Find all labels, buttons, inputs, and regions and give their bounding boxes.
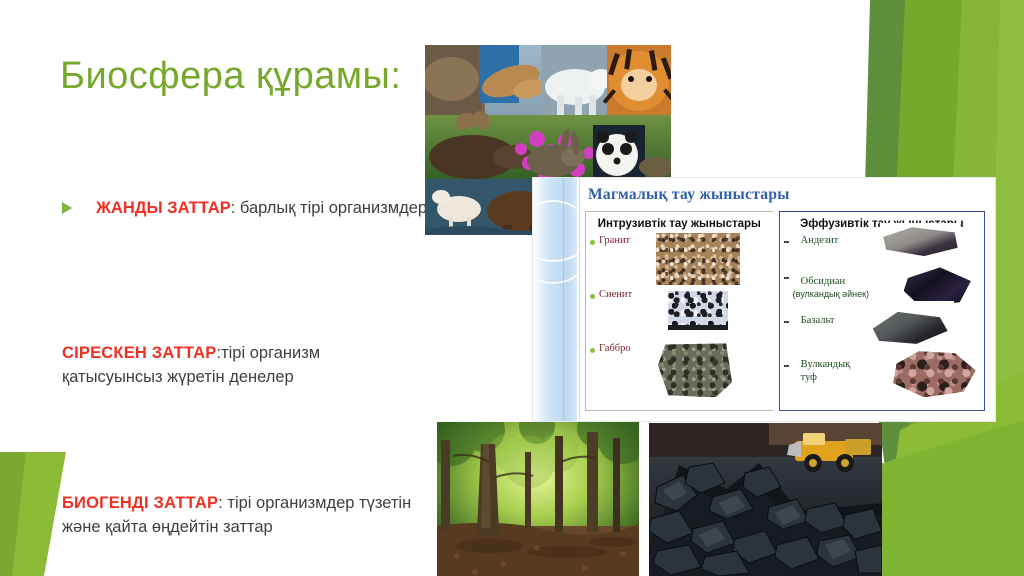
rock-classification-table: Интрузивтік тау жыныстары Гранит Сиенит	[585, 211, 985, 411]
bullet-item-1: ЖАНДЫ ЗАТТАР: барлық тірі организмдер	[62, 197, 448, 221]
rock-row: Габбро	[590, 343, 773, 407]
forest-image	[437, 422, 639, 576]
bullet-item-2: СІРЕСКЕН ЗАТТАР:тірі организм қатысуынсы…	[62, 342, 414, 390]
bullet-keyword-3: БИОГЕНДІ ЗАТТАР	[62, 494, 218, 512]
rock-column-intrusive: Интрузивтік тау жыныстары Гранит Сиенит	[585, 211, 773, 411]
rock-list-effusive: Андезит Обсидиан (вулкандық әйнек)	[780, 233, 984, 405]
presentation-slide: Биосфера құрамы: ЖАНДЫ ЗАТТАР: барлық ті…	[0, 0, 1024, 576]
rock-name: Сиенит	[599, 289, 632, 302]
inner-slide-left-band	[533, 178, 577, 421]
rock-name: Гранит	[599, 235, 630, 248]
bullet-dash-icon	[784, 365, 789, 367]
rock-image-tuff	[888, 345, 980, 403]
coal-image	[649, 423, 882, 576]
rock-image-andesite	[880, 223, 960, 261]
rock-list-intrusive: Гранит Сиенит	[586, 233, 773, 407]
deco-shape-left-bottom-dark	[0, 452, 26, 576]
rock-column-effusive: Эффузивтік тау жыныстары Андезит Обсидиа…	[779, 211, 985, 411]
triangle-bullet-icon	[62, 202, 72, 214]
page-title: Биосфера құрамы:	[60, 56, 401, 98]
rock-name: Андезит	[801, 235, 839, 248]
bullet-keyword-1: ЖАНДЫ ЗАТТАР	[96, 199, 231, 217]
bullet-dash-icon	[784, 241, 789, 243]
bullet-dot-icon	[590, 240, 595, 245]
rock-image-syenite	[664, 285, 732, 331]
inner-slide-divider	[563, 178, 564, 421]
deco-shape-left-bottom	[0, 452, 66, 576]
rock-name: Базальт	[801, 315, 835, 328]
rock-image-gabbro	[650, 339, 746, 401]
bullet-item-3: БИОГЕНДІ ЗАТТАР: тірі организмдер түзеті…	[62, 492, 434, 540]
rock-row: Гранит	[590, 235, 773, 289]
bullet-text-1: : барлық тірі организмдер	[231, 199, 427, 217]
rock-name: Обсидиан	[801, 276, 845, 287]
inner-slide-divider	[579, 178, 580, 421]
bullet-dot-icon	[590, 348, 595, 353]
rock-row: Сиенит	[590, 289, 773, 343]
rock-name: Габбро	[599, 343, 631, 356]
bullet-dot-icon	[590, 294, 595, 299]
bullet-keyword-2: СІРЕСКЕН ЗАТТАР	[62, 344, 216, 362]
rock-name: Вулкандық туф	[801, 359, 859, 384]
inner-slide-title: Магмалық тау жыныстары	[588, 186, 790, 204]
rock-column-header-intrusive: Интрузивтік тау жыныстары	[586, 212, 773, 233]
bullet-dash-icon	[784, 321, 789, 323]
rock-subtitle: (вулкандық әйнек)	[793, 289, 869, 299]
rock-row: Вулкандық туф	[784, 359, 984, 405]
embedded-rock-table-slide: Магмалық тау жыныстары Интрузивтік тау ж…	[533, 178, 995, 421]
bullet-dash-icon	[784, 277, 789, 279]
rock-image-granite	[656, 233, 740, 285]
